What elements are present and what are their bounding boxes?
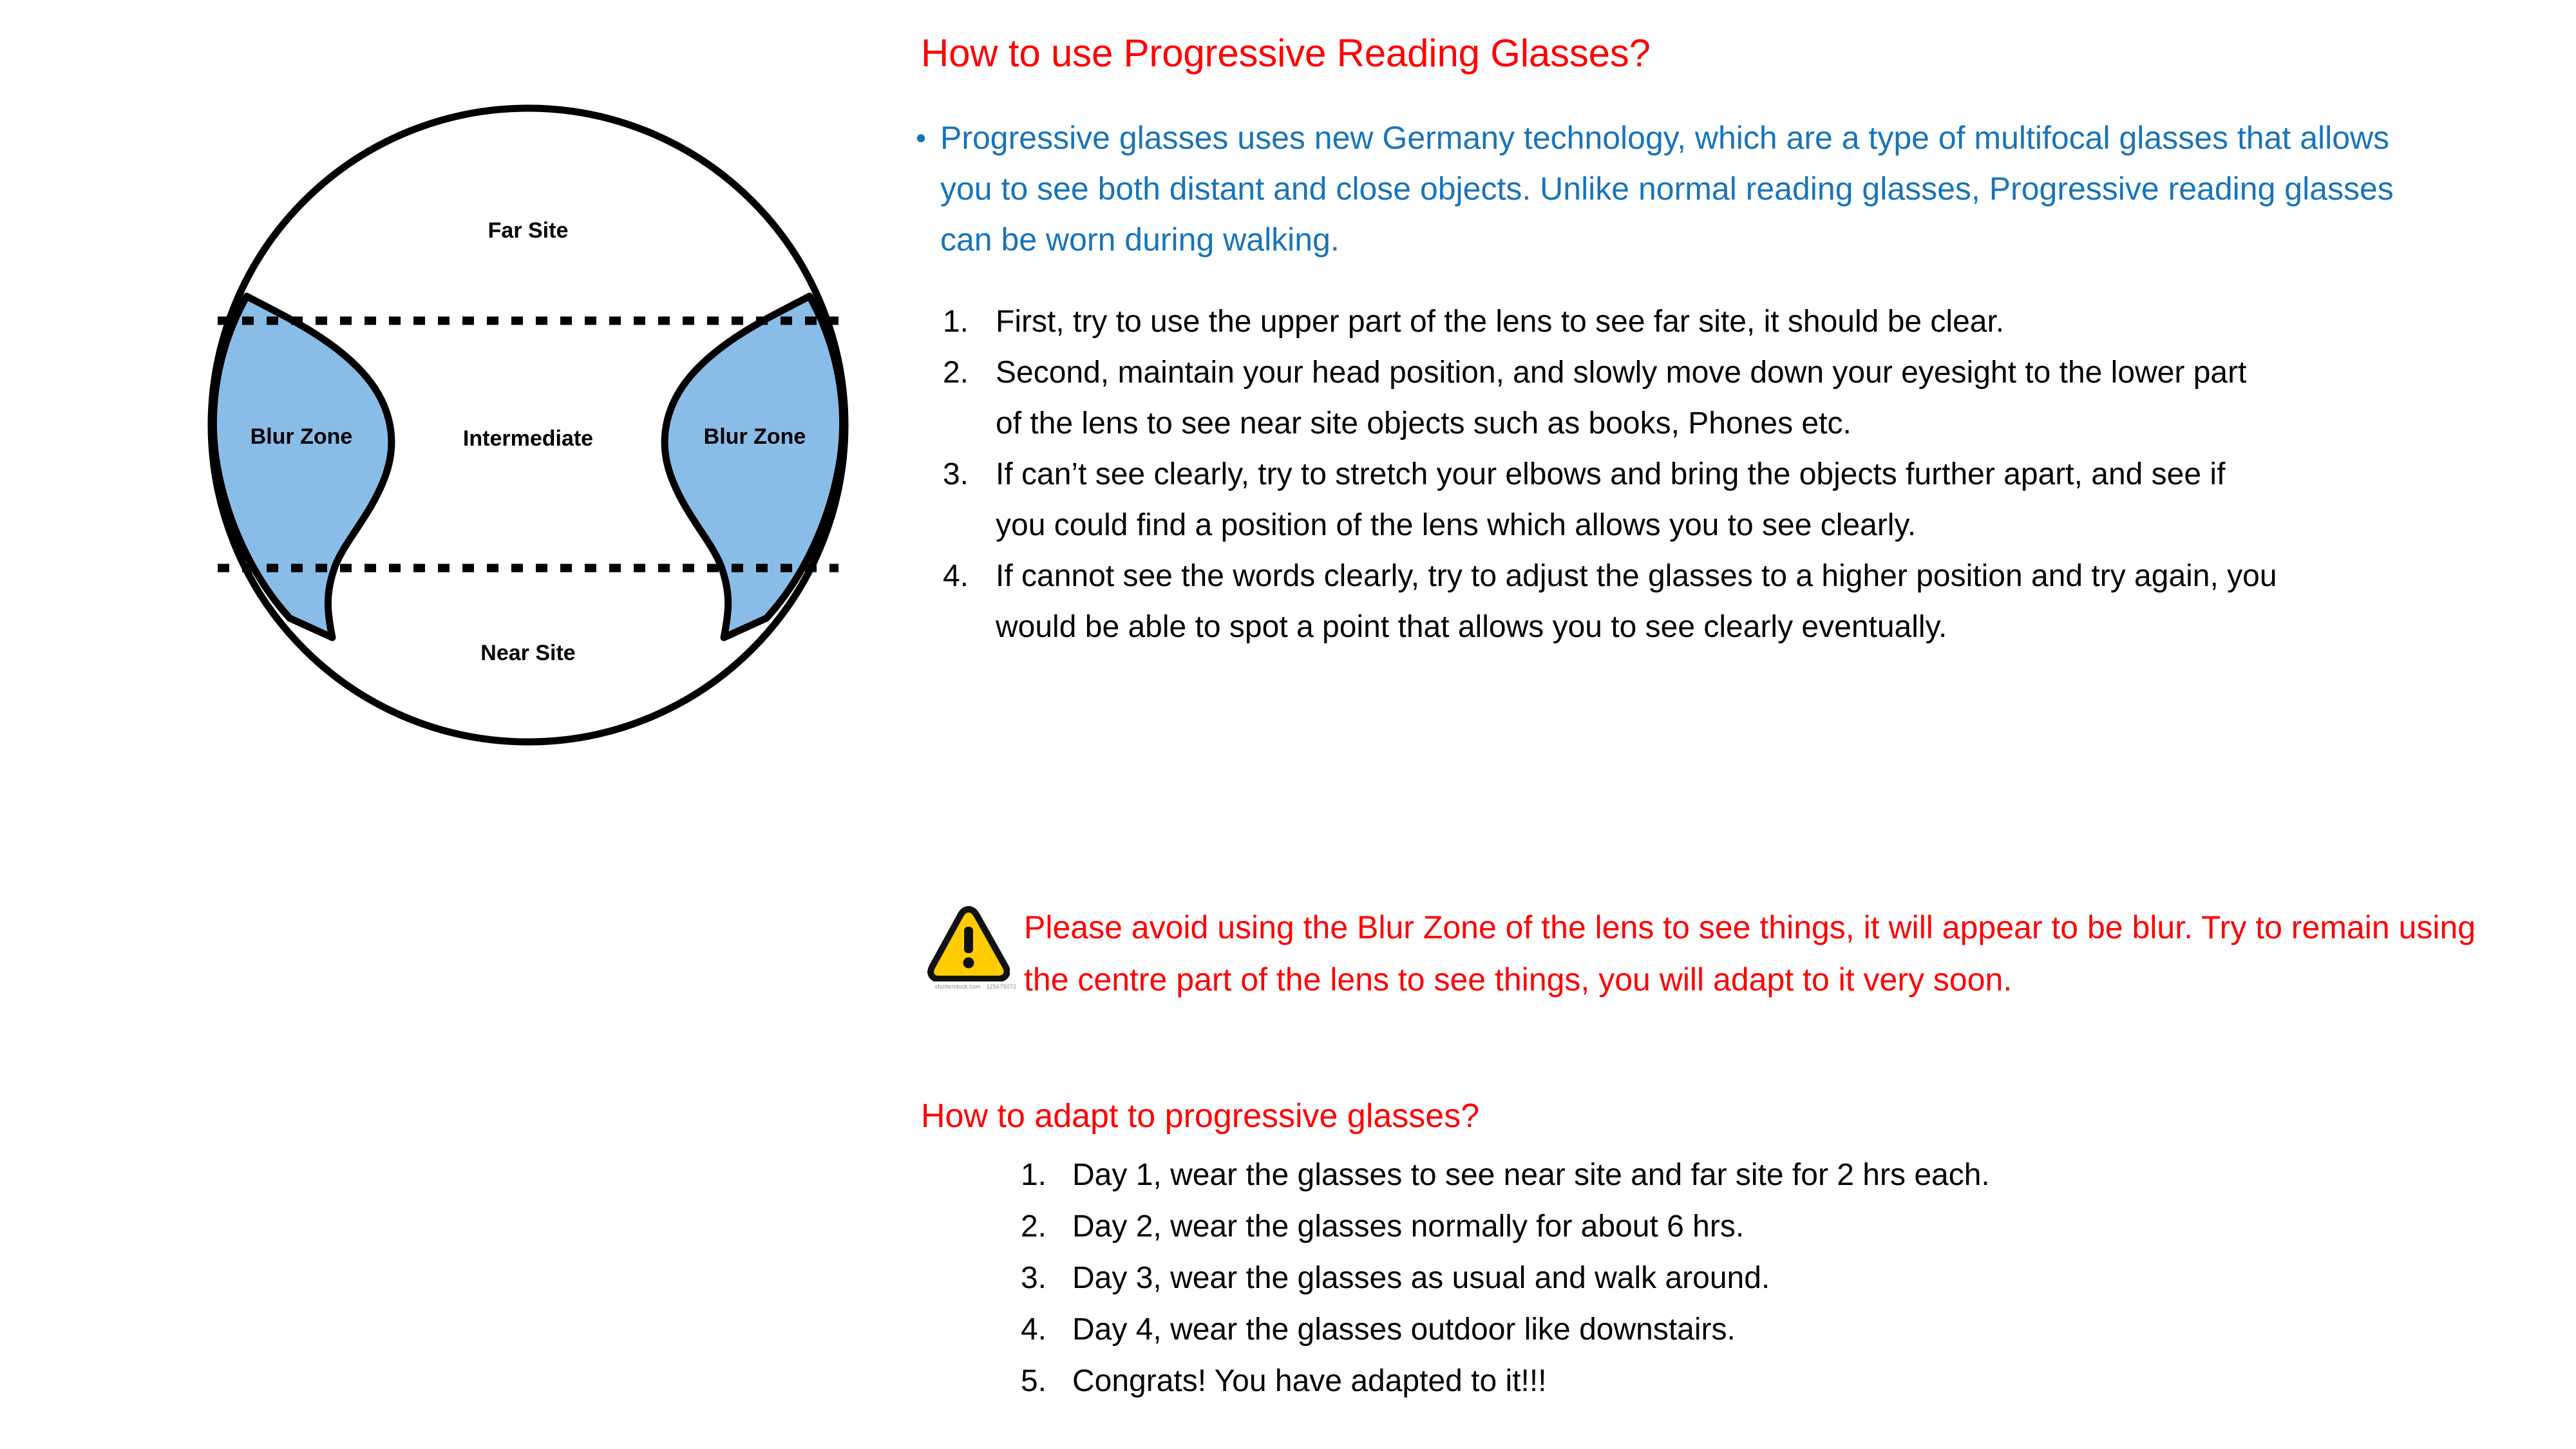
list-item: 3. If can’t see clearly, try to stretch … bbox=[926, 449, 2472, 551]
list-item-text: If cannot see the words clearly, try to … bbox=[996, 551, 2277, 652]
adapt-steps-list: 1. Day 1, wear the glasses to see near s… bbox=[1001, 1150, 2483, 1407]
list-item: 1. First, try to use the upper part of t… bbox=[926, 296, 2472, 347]
lens-label-blur-zone-left: Blur Zone bbox=[251, 424, 353, 449]
list-item-number: 3. bbox=[1001, 1253, 1072, 1303]
intro-bullet-text: Progressive glasses uses new Germany tec… bbox=[940, 113, 2415, 265]
warning-text: Please avoid using the Blur Zone of the … bbox=[1024, 900, 2479, 1006]
list-item: 4. Day 4, wear the glasses outdoor like … bbox=[1001, 1304, 2483, 1356]
bullet-dot-icon: • bbox=[902, 113, 940, 163]
list-item: 3. Day 3, wear the glasses as usual and … bbox=[1001, 1253, 2483, 1304]
lens-label-blur-zone-right: Blur Zone bbox=[704, 424, 806, 449]
list-item-number: 4. bbox=[926, 551, 996, 601]
list-item-text: If can’t see clearly, try to stretch you… bbox=[996, 449, 2277, 551]
lens-label-near-site: Near Site bbox=[480, 641, 575, 665]
warning-icon-container: shutterstock.com · 125675072 bbox=[927, 900, 1024, 990]
progressive-lens-diagram: Far Site Intermediate Near Site Blur Zon… bbox=[206, 103, 850, 747]
list-item: 2. Day 2, wear the glasses normally for … bbox=[1001, 1201, 2483, 1253]
intro-bullet-item: • Progressive glasses uses new Germany t… bbox=[902, 113, 2447, 265]
list-item-text: First, try to use the upper part of the … bbox=[996, 296, 2277, 347]
list-item-text: Day 4, wear the glasses outdoor like dow… bbox=[1072, 1304, 2354, 1356]
lens-label-intermediate: Intermediate bbox=[463, 426, 593, 451]
image-watermark: shutterstock.com · 125675072 bbox=[927, 983, 1024, 990]
list-item-number: 1. bbox=[926, 296, 996, 347]
list-item-number: 2. bbox=[1001, 1201, 1072, 1252]
list-item-text: Day 1, wear the glasses to see near site… bbox=[1072, 1150, 2354, 1201]
list-item-text: Day 2, wear the glasses normally for abo… bbox=[1072, 1201, 2354, 1253]
list-item: 2. Second, maintain your head position, … bbox=[926, 347, 2472, 449]
list-item-number: 4. bbox=[1001, 1304, 1072, 1355]
list-item-number: 3. bbox=[926, 449, 996, 500]
list-item: 1. Day 1, wear the glasses to see near s… bbox=[1001, 1150, 2483, 1201]
list-item-text: Congrats! You have adapted to it!!! bbox=[1072, 1356, 2354, 1407]
warning-callout: shutterstock.com · 125675072 Please avoi… bbox=[927, 900, 2505, 1006]
content-column: How to use Progressive Reading Glasses? … bbox=[902, 0, 2524, 1449]
list-item-text: Day 3, wear the glasses as usual and wal… bbox=[1072, 1253, 2354, 1304]
page-title: How to use Progressive Reading Glasses? bbox=[921, 31, 1651, 75]
list-item: 5. Congrats! You have adapted to it!!! bbox=[1001, 1356, 2483, 1407]
warning-triangle-icon bbox=[927, 905, 1010, 981]
usage-steps-list: 1. First, try to use the upper part of t… bbox=[926, 296, 2472, 652]
list-item-number: 2. bbox=[926, 347, 996, 398]
list-item-number: 1. bbox=[1001, 1150, 1072, 1200]
list-item: 4. If cannot see the words clearly, try … bbox=[926, 551, 2472, 652]
lens-label-far-site: Far Site bbox=[488, 218, 569, 243]
adapt-section-title: How to adapt to progressive glasses? bbox=[921, 1097, 1479, 1135]
list-item-text: Second, maintain your head position, and… bbox=[996, 347, 2277, 449]
list-item-number: 5. bbox=[1001, 1356, 1072, 1406]
